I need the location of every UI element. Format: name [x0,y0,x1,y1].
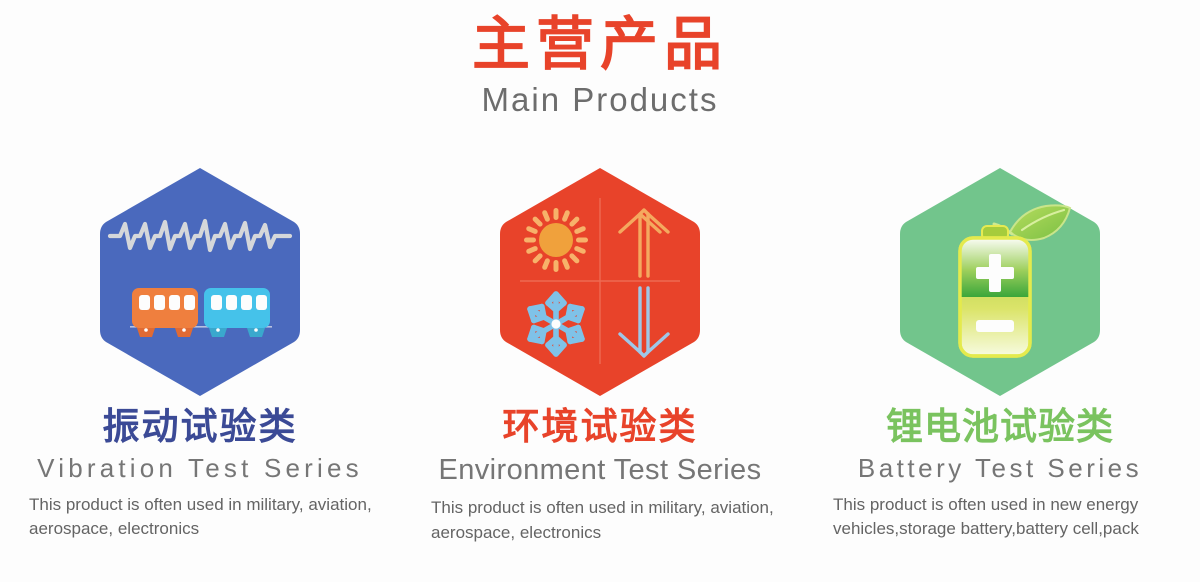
product-description-environment: This product is often used in military, … [431,496,791,545]
product-card-battery[interactable]: 锂电池试验类 Battery Test Series This product … [800,150,1200,582]
waveform-icon [110,221,290,250]
product-card-vibration[interactable]: 振动试验类 Vibration Test Series This product… [0,150,400,582]
battery-minus-icon [976,320,1014,332]
product-label-cn-environment: 环境试验类 [503,406,698,449]
product-description-battery: This product is often used in new energy… [833,493,1185,542]
arrow-down-icon [620,288,668,356]
page-title-en: Main Products [0,79,1200,120]
product-description-vibration: This product is often used in military, … [29,493,381,542]
train-car-cyan-icon [204,288,270,337]
sun-icon [524,208,588,272]
product-label-en-vibration: Vibration Test Series [37,453,363,484]
product-card-environment[interactable]: 环境试验类 Environment Test Series This produ… [400,150,800,582]
product-label-en-environment: Environment Test Series [439,453,762,488]
product-label-cn-battery: 锂电池试验类 [886,406,1114,449]
environment-icon-art [494,164,706,400]
product-columns: 振动试验类 Vibration Test Series This product… [0,150,1200,582]
battery-icon-art [894,164,1106,400]
product-label-en-battery: Battery Test Series [858,453,1142,484]
snowflake-icon [526,294,586,354]
environment-hexagon-icon[interactable] [494,164,706,400]
page-header: 主营产品 Main Products [0,0,1200,120]
vibration-hexagon-icon[interactable] [94,164,306,400]
battery-hexagon-icon[interactable] [894,164,1106,400]
product-label-cn-vibration: 振动试验类 [103,406,298,449]
train-car-orange-icon [132,288,198,337]
page-title-cn: 主营产品 [0,14,1200,75]
arrow-up-icon [620,210,668,276]
vibration-icon-art [94,164,306,400]
